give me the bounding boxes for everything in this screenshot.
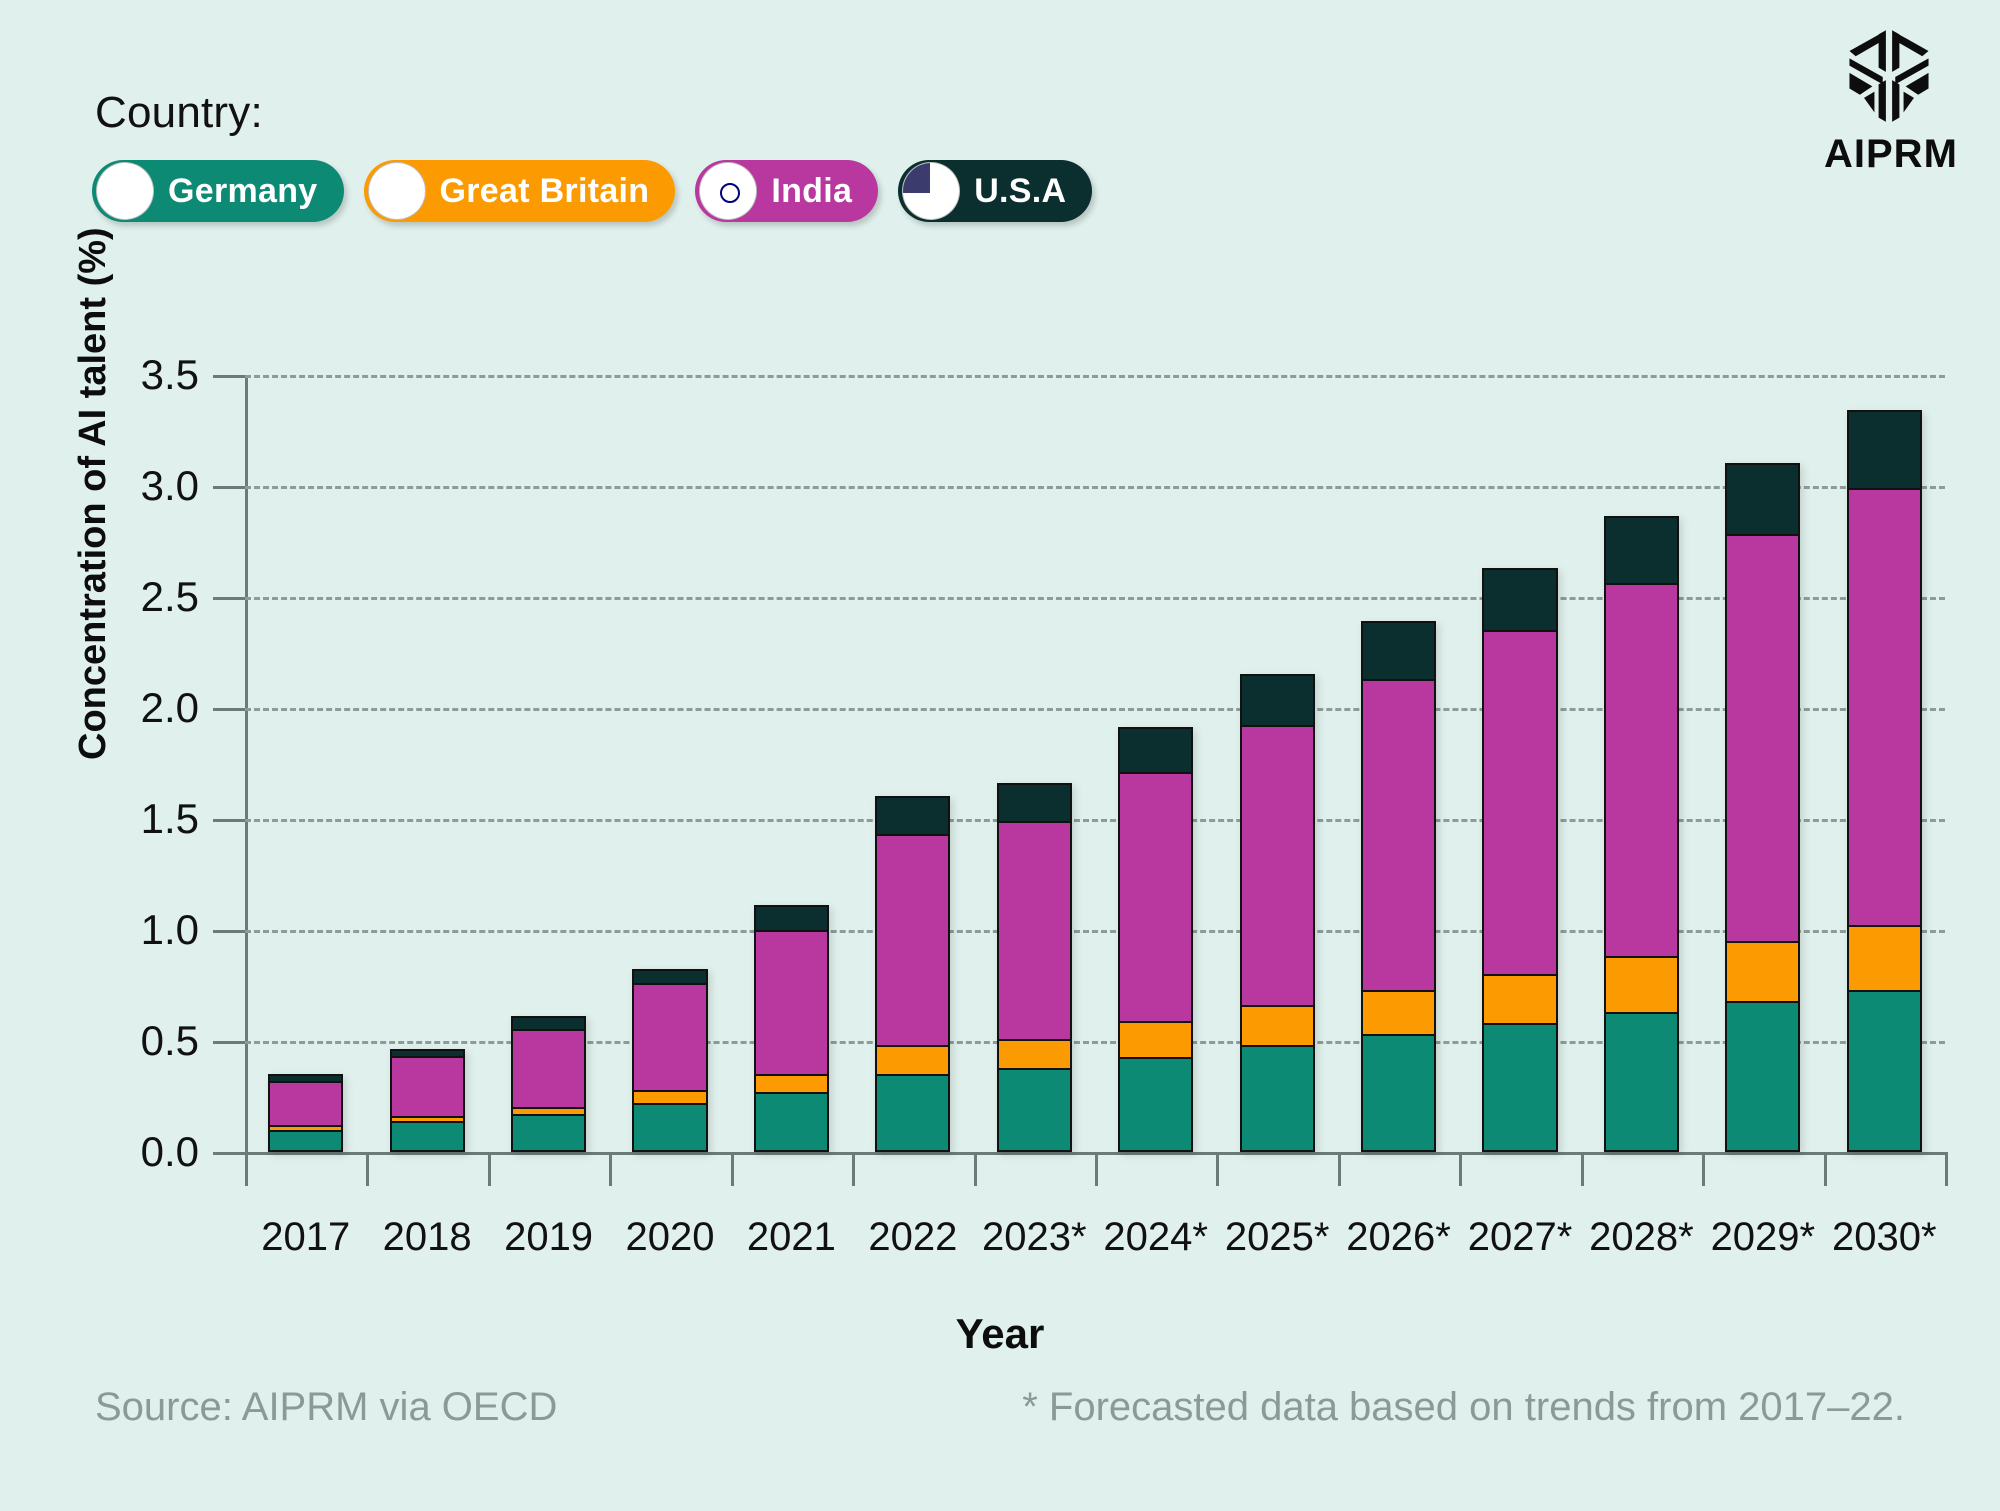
bar-segment-germany[interactable] bbox=[1118, 1057, 1193, 1152]
bar-group[interactable] bbox=[997, 785, 1072, 1152]
bar-segment-great-britain[interactable] bbox=[1725, 941, 1800, 1003]
x-axis-tick bbox=[1216, 1152, 1219, 1186]
bar-group[interactable] bbox=[1604, 518, 1679, 1152]
bar-group[interactable] bbox=[1118, 729, 1193, 1152]
x-axis-tick bbox=[245, 1152, 248, 1186]
bar-group[interactable] bbox=[268, 1076, 343, 1152]
x-axis-tick-label: 2029* bbox=[1711, 1215, 1816, 1260]
forecast-note: * Forecasted data based on trends from 2… bbox=[1022, 1385, 1905, 1430]
bar-segment-india[interactable] bbox=[1604, 583, 1679, 958]
bar-segment-india[interactable] bbox=[1361, 679, 1436, 992]
x-axis-title: Year bbox=[0, 1310, 2000, 1358]
y-axis-tick-label: 2.5 bbox=[89, 573, 199, 621]
bar-segment-germany[interactable] bbox=[1847, 990, 1922, 1152]
source-note: Source: AIPRM via OECD bbox=[95, 1385, 557, 1430]
y-axis-tick bbox=[213, 819, 245, 822]
bar-segment-germany[interactable] bbox=[1725, 1001, 1800, 1152]
x-axis-tick bbox=[731, 1152, 734, 1186]
bar-segment-germany[interactable] bbox=[1361, 1034, 1436, 1152]
footer: Source: AIPRM via OECD * Forecasted data… bbox=[0, 1385, 2000, 1465]
bar-segment-india[interactable] bbox=[511, 1029, 586, 1109]
bar-group[interactable] bbox=[1361, 623, 1436, 1152]
x-axis-tick-label: 2017 bbox=[261, 1215, 350, 1260]
bar-segment-great-britain[interactable] bbox=[1604, 956, 1679, 1014]
bar-segment-germany[interactable] bbox=[875, 1074, 950, 1152]
bar-group[interactable] bbox=[1240, 676, 1315, 1152]
x-axis-tick bbox=[974, 1152, 977, 1186]
bar-segment-u-s-a[interactable] bbox=[1847, 410, 1922, 490]
y-axis-tick bbox=[213, 597, 245, 600]
bar-group[interactable] bbox=[632, 971, 707, 1152]
x-axis-tick-label: 2019 bbox=[504, 1215, 593, 1260]
bar-group[interactable] bbox=[1725, 465, 1800, 1152]
y-axis-tick bbox=[213, 1041, 245, 1044]
bar-segment-u-s-a[interactable] bbox=[1361, 621, 1436, 681]
x-axis-tick bbox=[1581, 1152, 1584, 1186]
bar-segment-u-s-a[interactable] bbox=[1725, 463, 1800, 536]
bar-segment-india[interactable] bbox=[390, 1056, 465, 1118]
bar-segment-great-britain[interactable] bbox=[1361, 990, 1436, 1037]
bar-segment-great-britain[interactable] bbox=[1847, 925, 1922, 992]
bar-segment-u-s-a[interactable] bbox=[754, 905, 829, 932]
bar-segment-great-britain[interactable] bbox=[997, 1039, 1072, 1070]
stacked-bar-chart: Concentration of AI talent (%) 0.00.51.0… bbox=[0, 0, 2000, 1511]
bar-segment-great-britain[interactable] bbox=[875, 1045, 950, 1076]
bar-group[interactable] bbox=[754, 907, 829, 1152]
bar-segment-germany[interactable] bbox=[390, 1121, 465, 1152]
x-axis-tick bbox=[609, 1152, 612, 1186]
bar-segment-india[interactable] bbox=[1118, 772, 1193, 1023]
bar-series-container bbox=[245, 375, 1945, 1152]
bar-segment-great-britain[interactable] bbox=[1240, 1005, 1315, 1047]
bar-segment-germany[interactable] bbox=[1240, 1045, 1315, 1152]
x-axis-tick-label: 2021 bbox=[747, 1215, 836, 1260]
x-axis-tick bbox=[1095, 1152, 1098, 1186]
x-axis-tick-label: 2022 bbox=[868, 1215, 957, 1260]
bar-segment-u-s-a[interactable] bbox=[875, 796, 950, 836]
y-axis-tick-label: 3.0 bbox=[89, 462, 199, 510]
bar-segment-germany[interactable] bbox=[754, 1092, 829, 1152]
bar-segment-india[interactable] bbox=[1847, 488, 1922, 928]
bar-segment-india[interactable] bbox=[875, 834, 950, 1047]
x-axis-tick-label: 2020 bbox=[626, 1215, 715, 1260]
bar-segment-germany[interactable] bbox=[632, 1103, 707, 1152]
bar-segment-u-s-a[interactable] bbox=[1604, 516, 1679, 585]
bar-segment-great-britain[interactable] bbox=[1118, 1021, 1193, 1059]
x-axis-tick bbox=[488, 1152, 491, 1186]
bar-segment-germany[interactable] bbox=[997, 1068, 1072, 1152]
bar-segment-great-britain[interactable] bbox=[754, 1074, 829, 1094]
bar-group[interactable] bbox=[875, 798, 950, 1152]
x-axis-tick bbox=[366, 1152, 369, 1186]
bar-segment-u-s-a[interactable] bbox=[1118, 727, 1193, 774]
bar-group[interactable] bbox=[1482, 570, 1557, 1152]
y-axis-tick-label: 3.5 bbox=[89, 351, 199, 399]
bar-segment-india[interactable] bbox=[997, 821, 1072, 1041]
x-axis-tick-label: 2027* bbox=[1468, 1215, 1573, 1260]
x-axis-tick bbox=[852, 1152, 855, 1186]
bar-segment-india[interactable] bbox=[1482, 630, 1557, 976]
bar-segment-germany[interactable] bbox=[268, 1130, 343, 1152]
bar-segment-india[interactable] bbox=[632, 983, 707, 1092]
y-axis-tick bbox=[213, 708, 245, 711]
x-axis-tick bbox=[1702, 1152, 1705, 1186]
bar-segment-u-s-a[interactable] bbox=[997, 783, 1072, 823]
y-axis-tick bbox=[213, 486, 245, 489]
x-axis-tick-label: 2025* bbox=[1225, 1215, 1330, 1260]
x-axis-tick-label: 2030* bbox=[1832, 1215, 1937, 1260]
bar-segment-germany[interactable] bbox=[1482, 1023, 1557, 1152]
bar-segment-u-s-a[interactable] bbox=[1240, 674, 1315, 727]
bar-group[interactable] bbox=[390, 1051, 465, 1152]
y-axis-tick-label: 1.5 bbox=[89, 795, 199, 843]
bar-segment-great-britain[interactable] bbox=[1482, 974, 1557, 1025]
x-axis-tick bbox=[1338, 1152, 1341, 1186]
x-axis-tick bbox=[1945, 1152, 1948, 1186]
bar-segment-india[interactable] bbox=[268, 1081, 343, 1128]
bar-segment-india[interactable] bbox=[1240, 725, 1315, 1007]
x-axis-tick bbox=[1824, 1152, 1827, 1186]
x-axis-ticks bbox=[245, 1152, 1945, 1192]
x-axis-labels: 2017201820192020202120222023*2024*2025*2… bbox=[245, 1215, 1945, 1275]
y-axis-tick-label: 0.0 bbox=[89, 1128, 199, 1176]
x-axis-tick-label: 2028* bbox=[1589, 1215, 1694, 1260]
bar-segment-germany[interactable] bbox=[511, 1114, 586, 1152]
x-axis-tick-label: 2023* bbox=[982, 1215, 1087, 1260]
bar-group[interactable] bbox=[511, 1018, 586, 1152]
y-axis-tick bbox=[213, 1152, 245, 1155]
x-axis-tick-label: 2024* bbox=[1103, 1215, 1208, 1260]
x-axis-tick-label: 2026* bbox=[1346, 1215, 1451, 1260]
y-axis-tick-label: 1.0 bbox=[89, 906, 199, 954]
x-axis-tick-label: 2018 bbox=[383, 1215, 472, 1260]
bar-segment-india[interactable] bbox=[754, 930, 829, 1077]
plot-area bbox=[245, 375, 1945, 1152]
y-axis-tick-label: 2.0 bbox=[89, 684, 199, 732]
y-axis-tick bbox=[213, 930, 245, 933]
y-axis-tick-label: 0.5 bbox=[89, 1017, 199, 1065]
x-axis-tick bbox=[1459, 1152, 1462, 1186]
bar-segment-u-s-a[interactable] bbox=[1482, 568, 1557, 632]
y-axis-tick bbox=[213, 375, 245, 378]
bar-group[interactable] bbox=[1847, 412, 1922, 1152]
bar-segment-germany[interactable] bbox=[1604, 1012, 1679, 1152]
bar-segment-india[interactable] bbox=[1725, 534, 1800, 942]
